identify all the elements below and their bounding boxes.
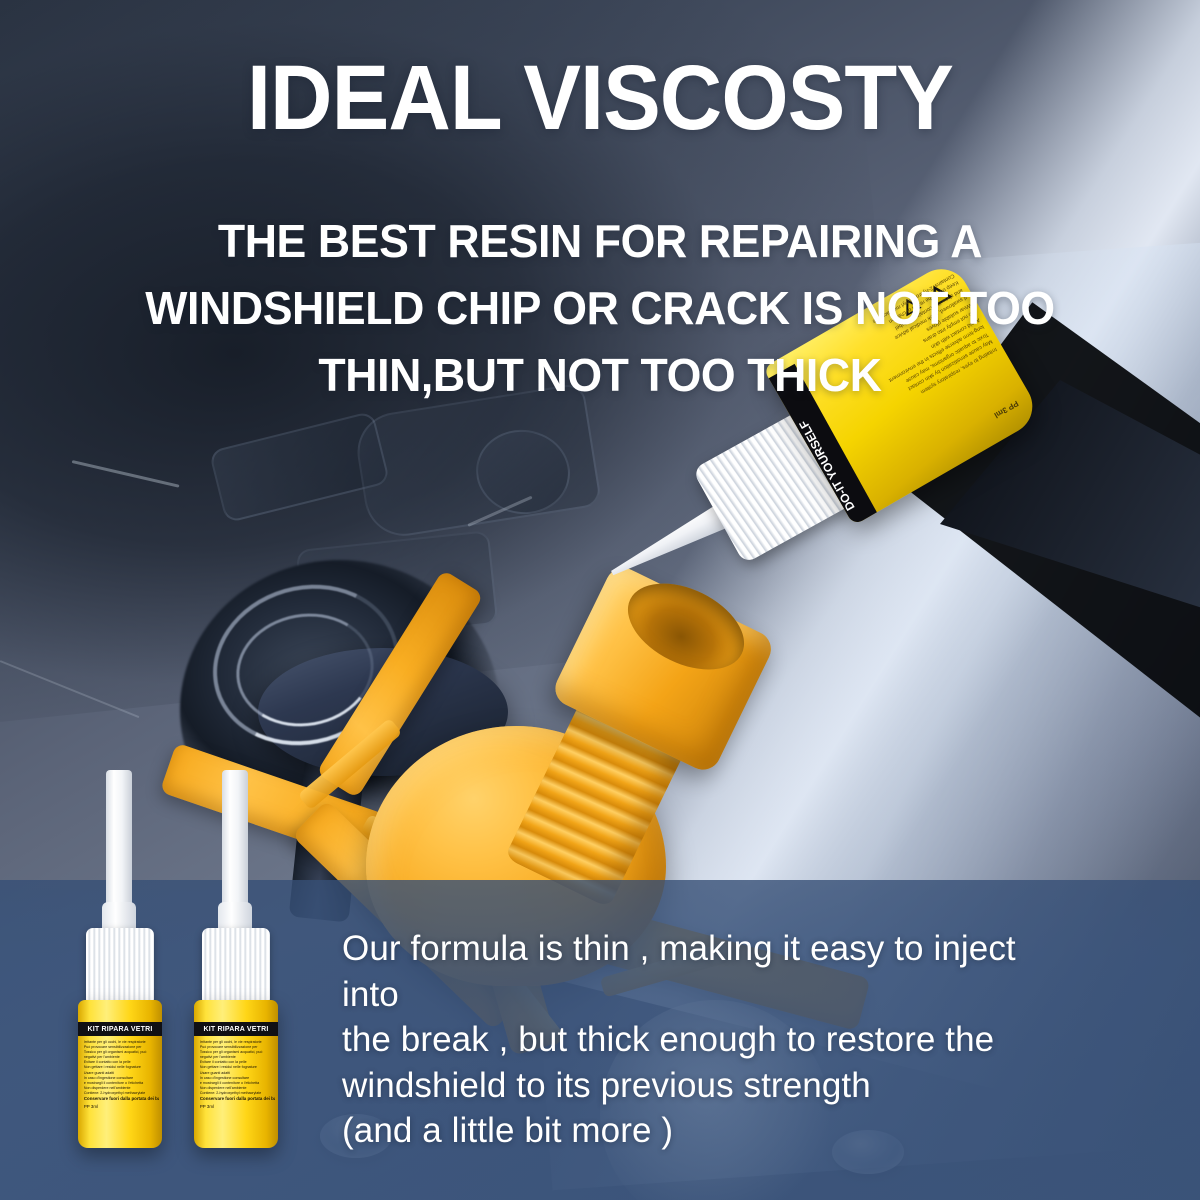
bottle-body-yellow: KIT RIPARA VETRI Irritante per gli occhi… xyxy=(194,1000,278,1148)
body-line-1: Our formula is thin , making it easy to … xyxy=(342,926,1180,972)
bottle-black-band: KIT RIPARA VETRI xyxy=(78,1022,162,1036)
body-line-2: into xyxy=(342,972,1180,1018)
bottle-cap-ribbed xyxy=(86,928,154,1006)
bottle-body-yellow: KIT RIPARA VETRI Irritante per gli occhi… xyxy=(78,1000,162,1148)
bottle-safety-text: Irritante per gli occhi, le vie respirat… xyxy=(84,1040,159,1111)
body-line-5: (and a little bit more ) xyxy=(342,1108,1180,1154)
product-promo-poster: DO-IT YOURSELF Irritating to eyes, respi… xyxy=(0,0,1200,1200)
small-bottle-1: KIT RIPARA VETRI Irritante per gli occhi… xyxy=(72,770,192,1150)
small-bottle-2: KIT RIPARA VETRI Irritante per gli occhi… xyxy=(188,770,308,1150)
safety-line-bold: Conservare fuori dalla portata dei bambi… xyxy=(200,1096,275,1102)
subheadline-line-2: WINDSHIELD CHIP OR CRACK IS NOT TOO xyxy=(76,275,1124,342)
bottle-nozzle xyxy=(222,770,248,910)
bottle-brand-label: KIT RIPARA VETRI xyxy=(87,1026,152,1033)
body-description: Our formula is thin , making it easy to … xyxy=(342,926,1180,1154)
bottle-black-band: KIT RIPARA VETRI xyxy=(194,1022,278,1036)
subheadline-line-3: THIN,BUT NOT TOO THICK xyxy=(76,342,1124,409)
bottle-brand-label: KIT RIPARA VETRI xyxy=(203,1026,268,1033)
bottle-volume: PP 3ml xyxy=(84,1104,159,1110)
body-line-3: the break , but thick enough to restore … xyxy=(342,1017,1180,1063)
subheadline-line-1: THE BEST RESIN FOR REPAIRING A xyxy=(76,208,1124,275)
subheadline: THE BEST RESIN FOR REPAIRING A WINDSHIEL… xyxy=(76,208,1124,409)
bottle-nozzle xyxy=(106,770,132,910)
body-line-4: windshield to its previous strength xyxy=(342,1063,1180,1109)
bottle-safety-text: Irritante per gli occhi, le vie respirat… xyxy=(200,1040,275,1111)
page-title: IDEAL VISCOSTY xyxy=(36,52,1164,146)
safety-line-bold: Conservare fuori dalla portata dei bambi… xyxy=(84,1096,159,1102)
bottle-cap-ribbed xyxy=(202,928,270,1006)
bottle-volume: PP 3ml xyxy=(200,1104,275,1110)
